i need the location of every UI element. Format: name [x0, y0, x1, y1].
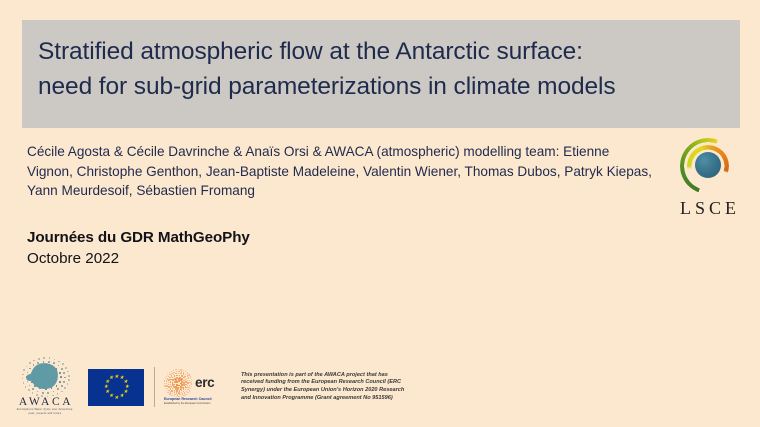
awaca-dot	[58, 361, 60, 363]
european-union-flag-icon: ★★★★★★★★★★★★	[88, 369, 144, 406]
awaca-dot	[38, 358, 40, 360]
erc-dot	[170, 381, 171, 382]
awaca-dot	[23, 369, 25, 371]
erc-dot	[178, 371, 179, 372]
erc-dot	[181, 371, 182, 372]
erc-dot	[167, 378, 168, 379]
erc-dot	[171, 390, 172, 391]
event-title: Journées du GDR MathGeoPhy	[27, 227, 250, 248]
presentation-slide: Stratified atmospheric flow at the Antar…	[0, 0, 760, 427]
erc-dot	[173, 372, 174, 373]
awaca-dot	[64, 387, 66, 389]
erc-dot	[190, 388, 191, 389]
awaca-dot	[68, 375, 70, 377]
awaca-dot	[67, 383, 69, 385]
eu-star-icon: ★	[109, 376, 113, 380]
erc-dot	[165, 378, 166, 379]
erc-dot	[190, 376, 191, 377]
erc-dot	[166, 385, 167, 386]
erc-dot	[179, 375, 180, 376]
title-line-1: Stratified atmospheric flow at the Antar…	[38, 34, 724, 69]
awaca-dot	[59, 381, 61, 383]
awaca-dot	[62, 363, 64, 365]
awaca-dot	[64, 377, 66, 379]
awaca-dot	[57, 388, 59, 390]
erc-dot	[164, 385, 165, 386]
awaca-dot	[29, 368, 31, 370]
erc-dot	[176, 375, 177, 376]
erc-dot	[173, 370, 174, 371]
erc-dot	[168, 384, 169, 385]
funding-disclaimer: This presentation is part of the AWACA p…	[241, 372, 431, 402]
eu-star-icon: ★	[114, 375, 118, 379]
erc-dotted-circle-icon	[163, 368, 192, 397]
erc-dot	[174, 394, 175, 395]
awaca-dot	[32, 388, 34, 390]
awaca-dot	[59, 372, 61, 374]
erc-dot	[185, 394, 186, 395]
disclaimer-line-1: This presentation is part of the AWACA p…	[241, 372, 431, 380]
awaca-dot	[29, 362, 31, 364]
event-block: Journées du GDR MathGeoPhy Octobre 2022	[27, 227, 250, 269]
erc-dot	[168, 386, 169, 387]
erc-dot	[166, 390, 167, 391]
erc-dot	[172, 388, 173, 389]
erc-dot	[183, 370, 184, 371]
awaca-dot	[28, 389, 30, 391]
awaca-dot	[22, 378, 24, 380]
erc-dot	[185, 371, 186, 372]
erc-subcaption: Established by the European Commission	[163, 402, 235, 406]
awaca-dot	[23, 382, 25, 384]
awaca-dot	[57, 393, 59, 395]
title-line-2: need for sub-grid parameterizations in c…	[38, 69, 724, 104]
title-banner: Stratified atmospheric flow at the Antar…	[22, 20, 740, 128]
erc-dot	[166, 383, 167, 384]
erc-dot	[176, 377, 178, 379]
awaca-subtitle-line-2: past, present and future	[15, 412, 76, 416]
awaca-dot	[53, 362, 55, 364]
awaca-dot	[29, 385, 31, 387]
erc-dot	[171, 373, 172, 374]
eu-star-icon: ★	[104, 385, 108, 389]
awaca-dot	[49, 357, 51, 359]
erc-dot	[180, 373, 181, 374]
erc-dot	[178, 373, 179, 374]
lsce-logo-label: LSCE	[667, 198, 749, 219]
awaca-dot	[60, 376, 62, 378]
eu-star-icon: ★	[119, 394, 123, 398]
erc-wordmark: erc	[195, 375, 214, 390]
awaca-dot	[61, 391, 63, 393]
awaca-dot	[54, 359, 56, 361]
awaca-logo: AWACA Atmospheric Water Cycle over Antar…	[14, 359, 76, 415]
awaca-dot	[56, 385, 58, 387]
awaca-dot	[61, 385, 63, 387]
awaca-dot	[26, 366, 28, 368]
antarctica-icon	[18, 359, 72, 395]
awaca-dot	[53, 391, 55, 393]
awaca-dot	[63, 372, 65, 374]
erc-mark-row: erc	[163, 368, 235, 397]
erc-dot	[191, 379, 192, 380]
awaca-dot	[63, 381, 65, 383]
erc-dot	[174, 381, 176, 383]
footer-divider	[154, 367, 155, 407]
lsce-logo: LSCE	[667, 138, 749, 219]
erc-dot	[166, 376, 167, 377]
erc-dot	[180, 369, 181, 370]
erc-dot	[170, 384, 171, 385]
erc-dot	[187, 392, 188, 393]
erc-dot	[168, 382, 169, 383]
awaca-dot	[33, 360, 35, 362]
erc-dot	[191, 383, 192, 384]
author-list: Cécile Agosta & Cécile Davrinche & Anaïs…	[27, 142, 657, 201]
lsce-core-circle	[695, 152, 721, 178]
lsce-swirl-icon	[680, 138, 736, 194]
awaca-dot	[32, 392, 34, 394]
erc-logo: erc European Research Council Establishe…	[163, 368, 235, 406]
erc-dot	[167, 388, 168, 389]
awaca-dot	[42, 392, 44, 394]
awaca-dot	[47, 392, 49, 394]
erc-dot	[171, 371, 172, 372]
erc-dot	[174, 375, 175, 376]
erc-dot	[172, 384, 174, 386]
erc-dot	[183, 395, 184, 396]
footer-logo-bar: AWACA Atmospheric Water Cycle over Antar…	[14, 356, 431, 418]
erc-dot	[185, 379, 186, 380]
erc-dot	[170, 388, 171, 389]
awaca-dot	[68, 379, 70, 381]
erc-dot	[167, 392, 168, 393]
erc-dot	[191, 386, 192, 387]
event-date: Octobre 2022	[27, 248, 250, 269]
awaca-dot	[61, 368, 63, 370]
erc-dot	[168, 390, 169, 391]
erc-dot	[189, 390, 190, 391]
erc-dot	[181, 396, 182, 397]
disclaimer-line-2: received funding from the European Resea…	[241, 379, 431, 387]
awaca-dot	[37, 391, 39, 393]
erc-dot	[174, 391, 175, 392]
awaca-dot	[25, 386, 27, 388]
erc-dot	[174, 396, 175, 397]
erc-dot	[184, 376, 185, 377]
awaca-dot	[65, 367, 67, 369]
awaca-dot	[67, 371, 69, 373]
awaca-dot	[22, 374, 24, 376]
awaca-subtitle-line-1: Atmospheric Water Cycle over Antarctica:	[15, 408, 76, 412]
disclaimer-line-3: Synergy) under the European Union's Hori…	[241, 387, 431, 395]
eu-star-icon: ★	[114, 396, 118, 400]
disclaimer-line-4: and Innovation Programme (Grant agreemen…	[241, 395, 431, 403]
erc-dot	[171, 395, 172, 396]
erc-dot	[191, 381, 192, 382]
eu-star-icon: ★	[105, 390, 109, 394]
erc-dot	[167, 374, 168, 375]
erc-dot	[168, 379, 169, 380]
awaca-dot	[43, 357, 45, 359]
awaca-logo-label: AWACA	[14, 396, 76, 408]
awaca-dot	[58, 365, 60, 367]
